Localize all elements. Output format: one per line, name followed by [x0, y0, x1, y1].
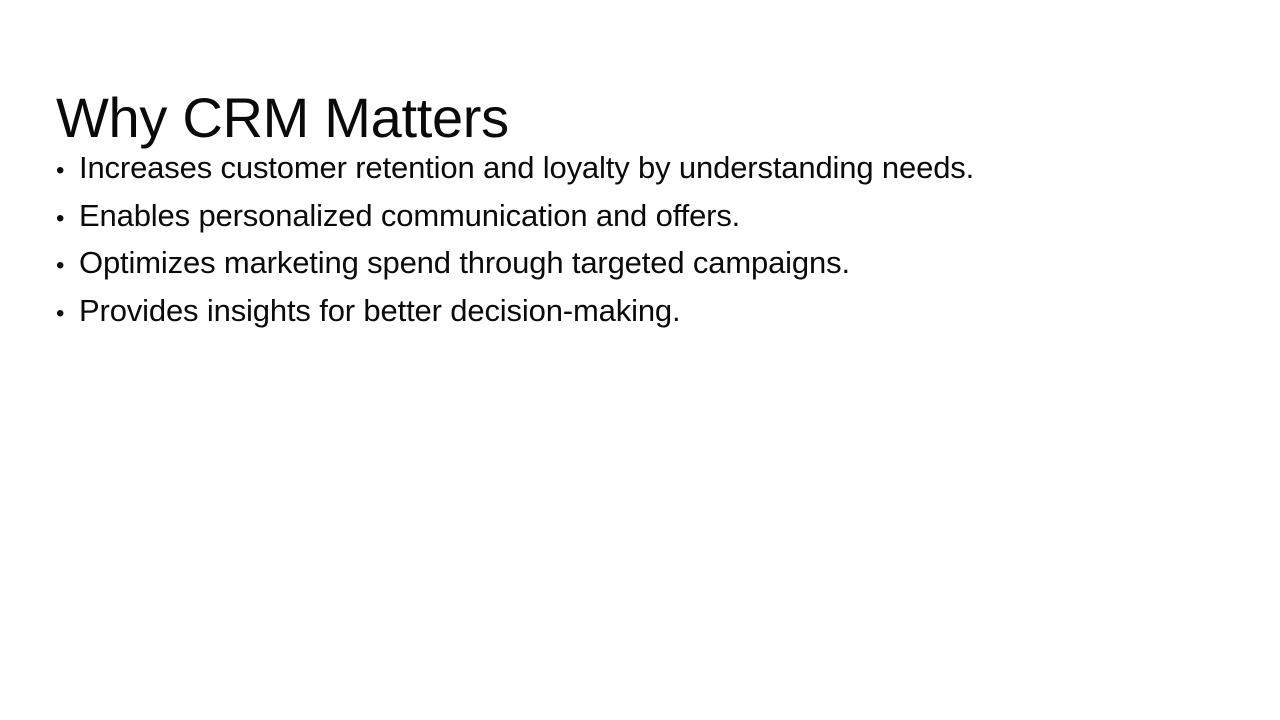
list-item: • Increases customer retention and loyal…: [56, 144, 1216, 192]
bullet-point-icon: •: [56, 242, 79, 290]
page-title: Why CRM Matters: [56, 86, 509, 150]
list-item-label: Provides insights for better decision-ma…: [79, 287, 680, 335]
list-item: • Optimizes marketing spend through targ…: [56, 239, 1216, 287]
bullet-point-icon: •: [56, 195, 79, 243]
bullet-point-icon: •: [56, 147, 79, 195]
list-item: • Enables personalized communication and…: [56, 192, 1216, 240]
list-item: • Provides insights for better decision-…: [56, 287, 1216, 335]
list-item-label: Enables personalized communication and o…: [79, 192, 740, 240]
bullet-list: • Increases customer retention and loyal…: [56, 144, 1216, 335]
presentation-slide: Why CRM Matters • Increases customer ret…: [0, 0, 1280, 720]
list-item-label: Optimizes marketing spend through target…: [79, 239, 850, 287]
list-item-label: Increases customer retention and loyalty…: [79, 144, 974, 192]
bullet-point-icon: •: [56, 290, 79, 338]
